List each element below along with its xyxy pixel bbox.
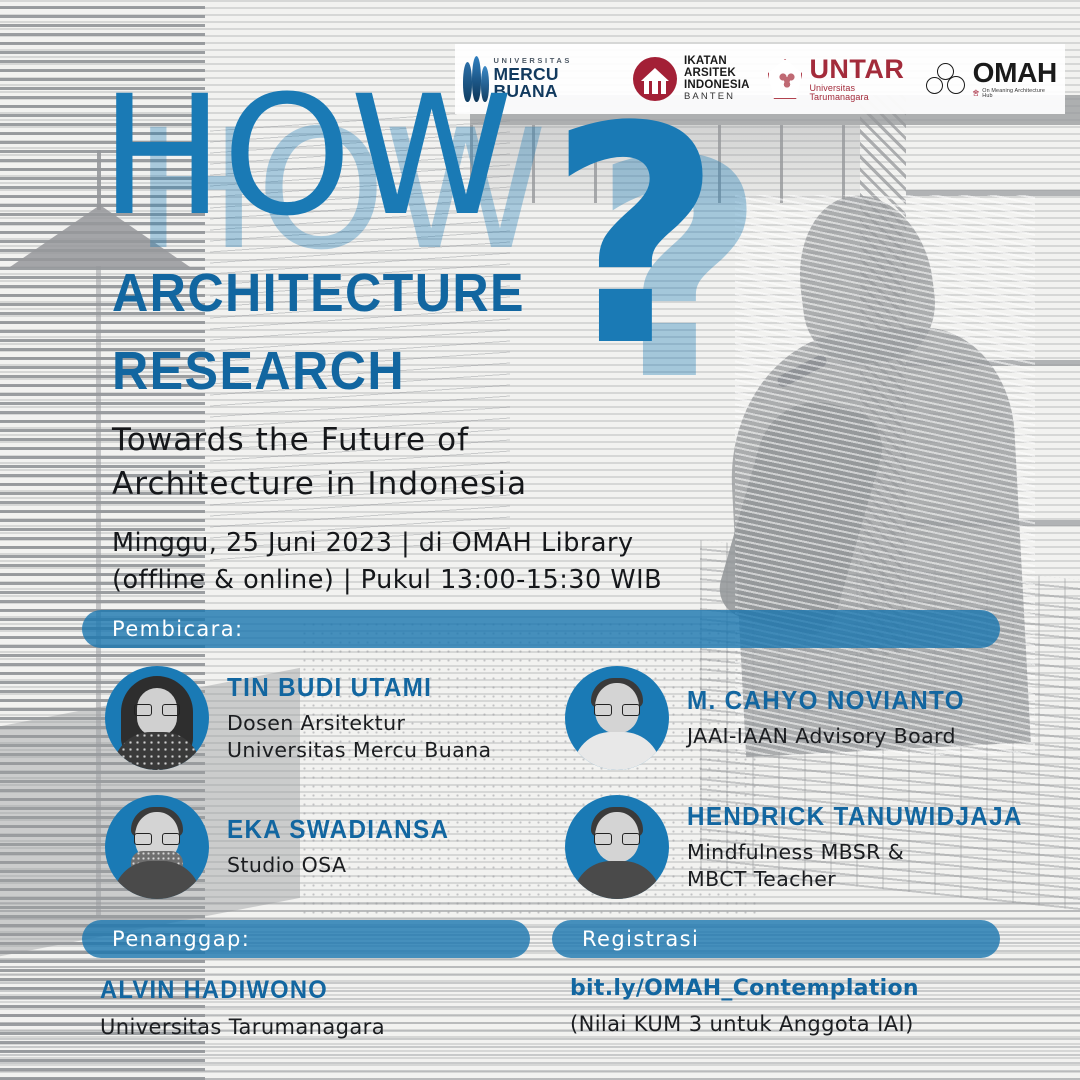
background-figure-pipe [775, 353, 828, 389]
registration-note: (Nilai KUM 3 untuk Anggota IAI) [570, 1011, 919, 1037]
registration-block: bit.ly/OMAH_Contemplation (Nilai KUM 3 u… [570, 975, 919, 1037]
respondent-affiliation: Universitas Tarumanagara [100, 1014, 385, 1040]
omah-circles-icon [926, 61, 966, 97]
avatar [565, 795, 669, 899]
event-datetime: Minggu, 25 Juni 2023 | di OMAH Library (… [112, 525, 662, 599]
speaker-name: EKA SWADIANSA [227, 815, 449, 845]
speaker-name: HENDRICK TANUWIDJAJA [687, 802, 1023, 832]
registration-link[interactable]: bit.ly/OMAH_Contemplation [570, 975, 919, 1003]
registration-section-label: Registrasi [582, 927, 699, 951]
logo-omah: OMAH 舍 On Meaning Architecture Hub [926, 59, 1057, 100]
avatar [105, 795, 209, 899]
omah-cjk-mark: 舍 [973, 91, 980, 98]
speaker-card: EKA SWADIANSA Studio OSA [105, 795, 461, 899]
background-shelf [906, 190, 1080, 196]
speaker-name: M. CAHYO NOVIANTO [687, 686, 965, 716]
speaker-card: M. CAHYO NOVIANTO JAAI-IAAN Advisory Boa… [565, 666, 980, 770]
omah-tagline: On Meaning Architecture Hub [982, 89, 1057, 100]
untar-shield-icon [768, 59, 803, 99]
speaker-role-line-1: Dosen Arsitektur [227, 710, 491, 736]
background-lamp-pole [96, 266, 101, 916]
respondent-section-label: Penanggap: [112, 927, 250, 951]
background-shelf [906, 360, 1080, 366]
background-shelf [906, 520, 1080, 526]
speaker-card: TIN BUDI UTAMI Dosen Arsitektur Universi… [105, 666, 491, 770]
background-figure-head [790, 188, 941, 371]
headline-tagline: Towards the Future of Architecture in In… [112, 418, 527, 506]
question-mark-graphic: ? [548, 118, 722, 358]
avatar [565, 666, 669, 770]
speaker-role-line-1: Studio OSA [227, 852, 461, 878]
event-date-line: Minggu, 25 Juni 2023 | di OMAH Library [112, 525, 662, 562]
respondent-section-bar: Penanggap: [82, 920, 530, 958]
headline-architecture: ARCHITECTURE [112, 262, 525, 324]
speakers-section-label: Pembicara: [112, 617, 243, 641]
avatar [105, 666, 209, 770]
speaker-role-line-2: Universitas Mercu Buana [227, 737, 491, 763]
tagline-line-2: Architecture in Indonesia [112, 462, 527, 506]
tagline-line-1: Towards the Future of [112, 418, 527, 462]
headline-research: RESEARCH [112, 340, 405, 402]
untar-subtitle: Universitas Tarumanagara [809, 84, 907, 102]
speaker-card: HENDRICK TANUWIDJAJA Mindfulness MBSR & … [565, 795, 1040, 899]
background-column-hatch [860, 95, 906, 655]
omah-name: OMAH [973, 59, 1057, 87]
speakers-section-bar: Pembicara: [82, 610, 1000, 648]
event-time-line: (offline & online) | Pukul 13:00-15:30 W… [112, 562, 662, 599]
speaker-name: TIN BUDI UTAMI [227, 673, 478, 703]
untar-name: UNTAR [809, 56, 907, 83]
headline-how-wrapper: HOW HOW [100, 78, 570, 248]
respondent-block: ALVIN HADIWONO Universitas Tarumanagara [100, 975, 385, 1041]
speaker-role-line-1: JAAI-IAAN Advisory Board [687, 723, 980, 749]
registration-section-bar: Registrasi [552, 920, 1000, 958]
speaker-role-line-2: MBCT Teacher [687, 866, 1040, 892]
headline-how: HOW [100, 78, 511, 235]
omah-tagline-row: 舍 On Meaning Architecture Hub [973, 89, 1057, 100]
logo-untar: UNTAR Universitas Tarumanagara [768, 56, 908, 102]
respondent-name: ALVIN HADIWONO [100, 975, 371, 1006]
event-poster: UNIVERSITAS MERCU BUANA IKATAN ARSITEK I… [0, 0, 1080, 1080]
speaker-role-line-1: Mindfulness MBSR & [687, 839, 1040, 865]
